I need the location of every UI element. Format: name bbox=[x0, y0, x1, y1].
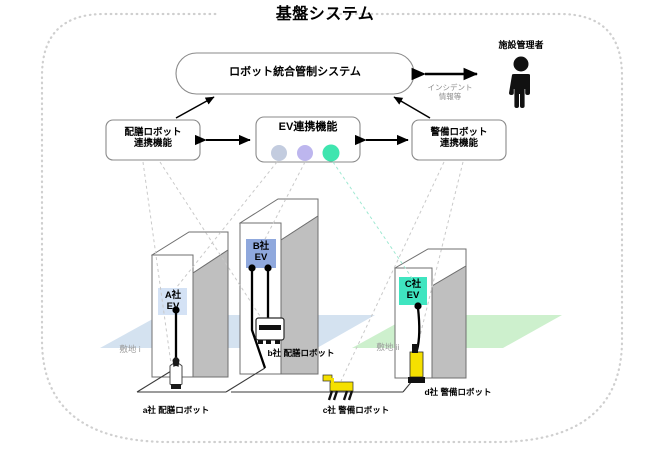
robot-label-d-sha: d社 警備ロボット bbox=[398, 388, 518, 398]
building-b-line1: B社 bbox=[241, 241, 281, 252]
building-label-a-sha: A社 EV bbox=[153, 290, 193, 313]
robot-b-sha[interactable] bbox=[256, 318, 284, 344]
site-label-2: 敷地 ii bbox=[358, 343, 418, 353]
ev-indicator-b-sha[interactable] bbox=[297, 145, 313, 161]
site-label-1: 敷地 i bbox=[100, 345, 160, 355]
building-a-line1: A社 bbox=[153, 290, 193, 301]
cable-node-b-sha-2 bbox=[264, 264, 271, 271]
building-b-line2: EV bbox=[241, 252, 281, 263]
facility-manager-label: 施設管理者 bbox=[466, 40, 576, 50]
incident-label: インシデント 情報等 bbox=[402, 83, 498, 102]
arrow-serving-to-hub bbox=[176, 97, 214, 118]
ev-indicator-c-sha[interactable] bbox=[323, 145, 340, 162]
map-line-c-sha bbox=[333, 162, 412, 278]
function-box-serving[interactable]: 配膳ロボット 連携機能 bbox=[106, 128, 200, 150]
function-box-security[interactable]: 警備ロボット 連携機能 bbox=[412, 128, 506, 150]
incident-label-line2: 情報等 bbox=[402, 92, 498, 101]
building-label-b-sha: B社 EV bbox=[241, 241, 281, 264]
incident-label-line1: インシデント bbox=[402, 83, 498, 92]
robot-c-sha[interactable] bbox=[323, 375, 353, 400]
function-box-ev[interactable]: EV連携機能 bbox=[256, 121, 360, 134]
ev-indicator-a-sha[interactable] bbox=[271, 145, 287, 161]
function-serving-line2: 連携機能 bbox=[106, 139, 200, 150]
cable-node-b-sha-1 bbox=[248, 264, 255, 271]
site-plane-1 bbox=[100, 315, 375, 348]
building-c-line1: C社 bbox=[394, 279, 432, 290]
building-label-c-sha: C社 EV bbox=[394, 279, 432, 302]
robot-label-a-sha: a社 配膳ロボット bbox=[116, 406, 236, 416]
building-a-line2: EV bbox=[153, 301, 193, 312]
robot-label-b-sha: b社 配膳ロボット bbox=[241, 349, 361, 359]
function-security-line2: 連携機能 bbox=[412, 139, 506, 150]
hub-label: ロボット統合管制システム bbox=[176, 66, 414, 79]
cable-node-c-sha bbox=[414, 302, 421, 309]
page-title: 基盤システム bbox=[0, 6, 650, 24]
diagram-canvas: 基盤システム ロボット統合管制システム 施設管理者 インシデント 情報等 配膳ロ… bbox=[0, 0, 650, 456]
building-c-line2: EV bbox=[394, 290, 432, 301]
robot-label-c-sha: c社 警備ロボット bbox=[296, 406, 416, 416]
person-icon bbox=[509, 57, 530, 109]
